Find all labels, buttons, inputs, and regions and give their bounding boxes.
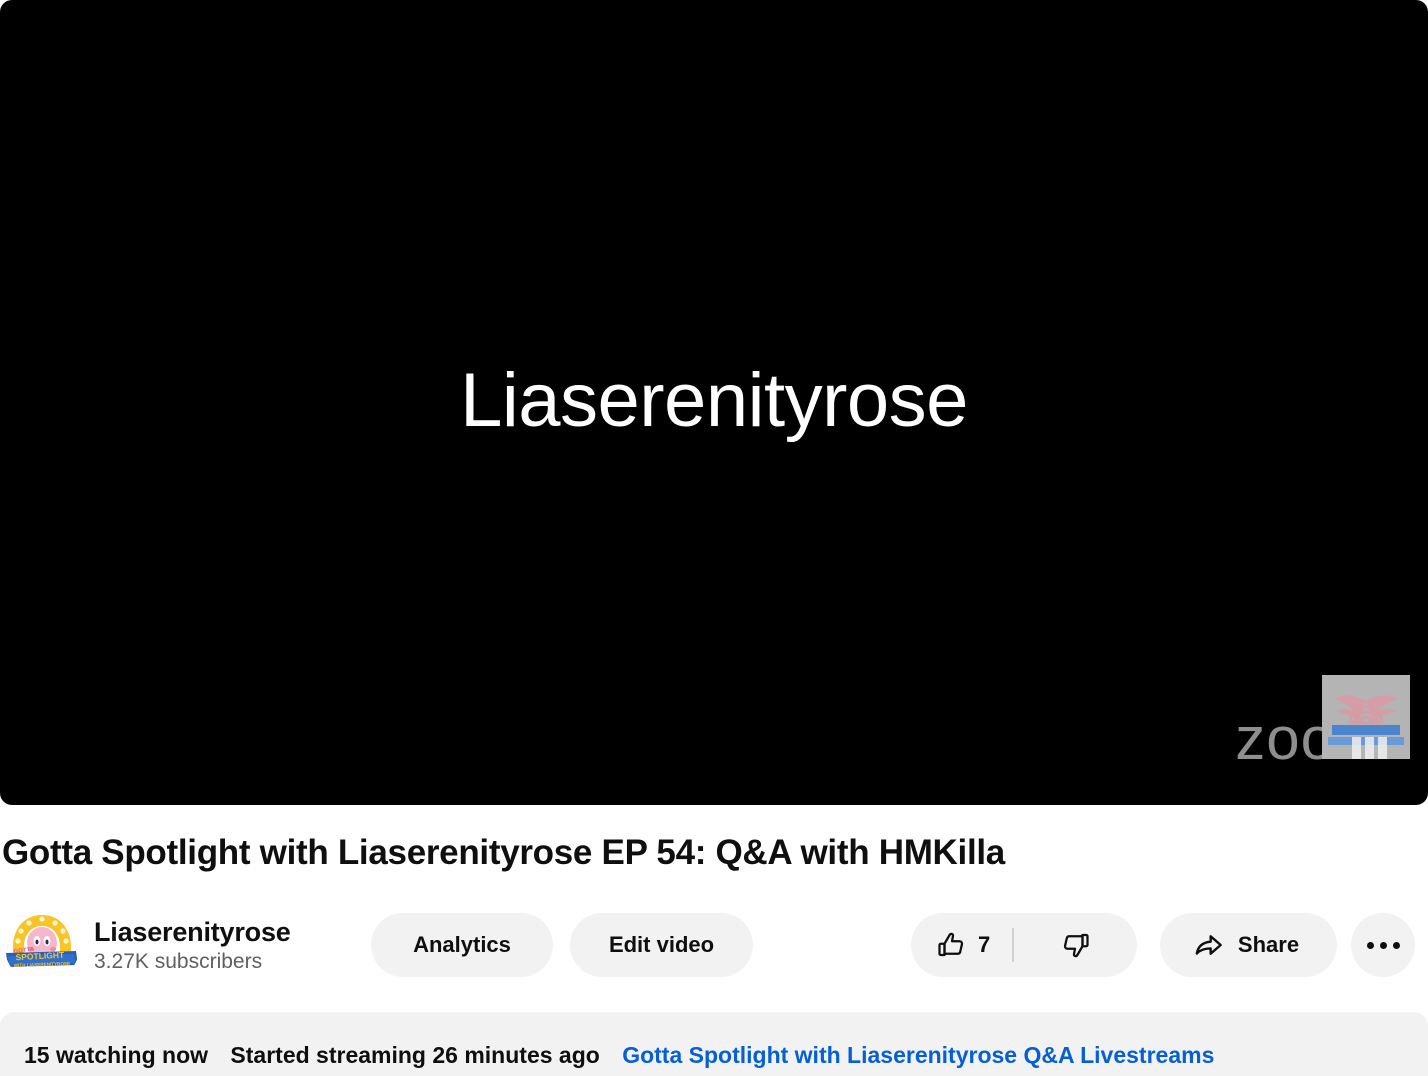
playlist-link[interactable]: Gotta Spotlight with Liaserenityrose Q&A…	[622, 1042, 1214, 1068]
stream-meta-line: 15 watching now Started streaming 26 min…	[24, 1040, 1404, 1070]
owner-actions-row: SPOTLIGHT GOTTA WITH LIASERENITYROSE Lia…	[0, 905, 1428, 985]
like-count: 7	[978, 934, 990, 956]
watching-now-count: 15 watching now	[24, 1042, 208, 1068]
edit-video-button[interactable]: Edit video	[570, 913, 753, 977]
analytics-button[interactable]: Analytics	[371, 913, 553, 977]
like-dislike-group: 7	[911, 913, 1137, 977]
player-stage: Liaserenityrose	[0, 0, 1428, 805]
like-button[interactable]: 7	[911, 913, 1012, 977]
participant-thumbnail	[1322, 675, 1410, 759]
channel-name[interactable]: Liaserenityrose	[94, 916, 291, 948]
video-player[interactable]: Liaserenityrose zoom	[0, 0, 1428, 805]
more-dot-1	[1367, 942, 1374, 949]
more-dot-3	[1393, 942, 1400, 949]
gotta-spotlight-logo-icon	[1322, 675, 1410, 759]
share-button[interactable]: Share	[1160, 913, 1337, 977]
share-arrow-icon	[1192, 929, 1224, 961]
channel-avatar-icon: SPOTLIGHT GOTTA WITH LIASERENITYROSE	[4, 907, 80, 983]
stage-participant-name: Liaserenityrose	[460, 363, 968, 439]
more-options-button[interactable]	[1351, 913, 1415, 977]
thumbs-down-icon	[1060, 930, 1090, 960]
subscriber-count: 3.27K subscribers	[94, 949, 291, 975]
owner-text-block: Liaserenityrose 3.27K subscribers	[94, 916, 291, 975]
youtube-watch-page: Liaserenityrose zoom	[0, 0, 1428, 1076]
stream-start-time: Started streaming 26 minutes ago	[230, 1042, 599, 1068]
avatar[interactable]: SPOTLIGHT GOTTA WITH LIASERENITYROSE	[4, 907, 80, 983]
more-dot-2	[1380, 942, 1387, 949]
channel-owner-block[interactable]: SPOTLIGHT GOTTA WITH LIASERENITYROSE Lia…	[4, 907, 291, 983]
page-title: Gotta Spotlight with Liaserenityrose EP …	[2, 831, 1302, 875]
description-box[interactable]: 15 watching now Started streaming 26 min…	[0, 1012, 1428, 1076]
share-label: Share	[1238, 932, 1299, 958]
dislike-button[interactable]	[1014, 913, 1137, 977]
thumbs-up-icon	[937, 930, 967, 960]
